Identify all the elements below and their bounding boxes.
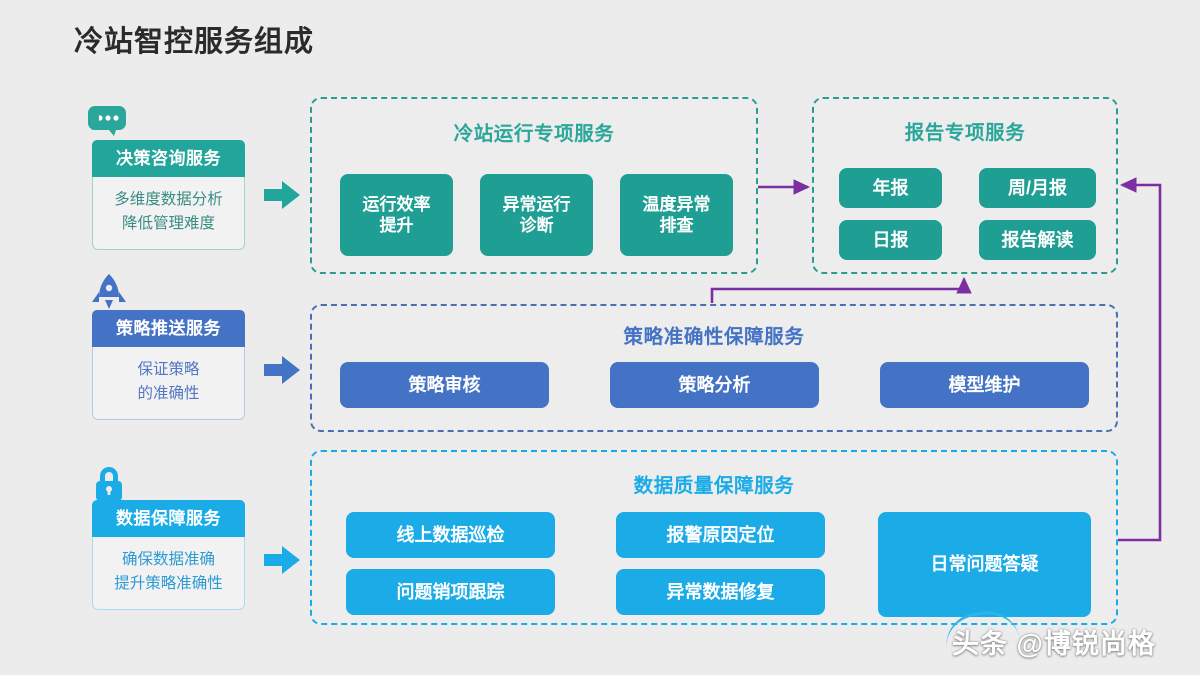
service-card-line: 的准确性 <box>97 382 240 406</box>
arrow-strategy-to-panel <box>264 355 300 385</box>
chip-strategy-analysis[interactable]: 策略分析 <box>610 362 819 408</box>
chip-temperature-check[interactable]: 温度异常 排查 <box>620 174 733 256</box>
chip-model-maintenance[interactable]: 模型维护 <box>880 362 1089 408</box>
connector-strategy-to-report <box>712 279 964 303</box>
service-card-body: 确保数据准确 提升策略准确性 <box>92 537 245 610</box>
service-card-title: 数据保障服务 <box>92 500 245 537</box>
chip-online-data-inspection[interactable]: 线上数据巡检 <box>346 512 555 558</box>
service-card-data-assurance[interactable]: 数据保障服务 确保数据准确 提升策略准确性 <box>92 500 245 610</box>
chip-abnormal-data-repair[interactable]: 异常数据修复 <box>616 569 825 615</box>
panel-title: 报告专项服务 <box>814 116 1116 145</box>
service-card-body: 多维度数据分析 降低管理难度 <box>92 177 245 250</box>
service-card-strategy-push[interactable]: 策略推送服务 保证策略 的准确性 <box>92 310 245 420</box>
chip-line: 异常运行 <box>503 194 571 215</box>
chip-operation-efficiency[interactable]: 运行效率 提升 <box>340 174 453 256</box>
chip-daily-qa[interactable]: 日常问题答疑 <box>878 512 1091 617</box>
watermark-text: 头条 @博锐尚格 <box>952 622 1156 661</box>
chip-line: 排查 <box>643 215 711 236</box>
arrow-decision-to-operation <box>264 180 300 210</box>
chip-strategy-review[interactable]: 策略审核 <box>340 362 549 408</box>
service-card-body: 保证策略 的准确性 <box>92 347 245 420</box>
chip-alarm-cause-location[interactable]: 报警原因定位 <box>616 512 825 558</box>
service-card-line: 多维度数据分析 <box>97 188 240 212</box>
chip-annual-report[interactable]: 年报 <box>839 168 942 208</box>
panel-cold-station-operation: 冷站运行专项服务 运行效率 提升 异常运行 诊断 温度异常 排查 <box>310 97 758 274</box>
panel-report-service: 报告专项服务 年报 周/月报 日报 报告解读 <box>812 97 1118 274</box>
service-card-title: 决策咨询服务 <box>92 140 245 177</box>
service-card-line: 保证策略 <box>97 358 240 382</box>
panel-title: 冷站运行专项服务 <box>312 117 756 146</box>
slide-canvas: 冷站智控服务组成 决策咨询服务 多维度数据分析 降低管理难度 <box>0 0 1200 675</box>
chip-report-interpretation[interactable]: 报告解读 <box>979 220 1096 260</box>
panel-title: 策略准确性保障服务 <box>312 320 1116 349</box>
service-card-line: 降低管理难度 <box>97 212 240 236</box>
chip-line: 运行效率 <box>363 194 431 215</box>
service-card-line: 确保数据准确 <box>97 548 240 572</box>
chip-line: 诊断 <box>503 215 571 236</box>
arrow-data-to-panel <box>264 545 300 575</box>
panel-title: 数据质量保障服务 <box>312 469 1116 498</box>
chip-line: 温度异常 <box>643 194 711 215</box>
chip-daily-report[interactable]: 日报 <box>839 220 942 260</box>
chip-issue-closure-tracking[interactable]: 问题销项跟踪 <box>346 569 555 615</box>
service-card-line: 提升策略准确性 <box>97 572 240 596</box>
page-title: 冷站智控服务组成 <box>74 18 314 60</box>
chip-weekly-monthly-report[interactable]: 周/月报 <box>979 168 1096 208</box>
chip-abnormal-diagnosis[interactable]: 异常运行 诊断 <box>480 174 593 256</box>
panel-data-quality: 数据质量保障服务 线上数据巡检 报警原因定位 日常问题答疑 问题销项跟踪 异常数… <box>310 450 1118 625</box>
service-card-decision[interactable]: 决策咨询服务 多维度数据分析 降低管理难度 <box>92 140 245 250</box>
chip-line: 提升 <box>363 215 431 236</box>
connector-data-quality-to-report <box>1118 185 1160 540</box>
panel-strategy-accuracy: 策略准确性保障服务 策略审核 策略分析 模型维护 <box>310 304 1118 432</box>
service-card-title: 策略推送服务 <box>92 310 245 347</box>
